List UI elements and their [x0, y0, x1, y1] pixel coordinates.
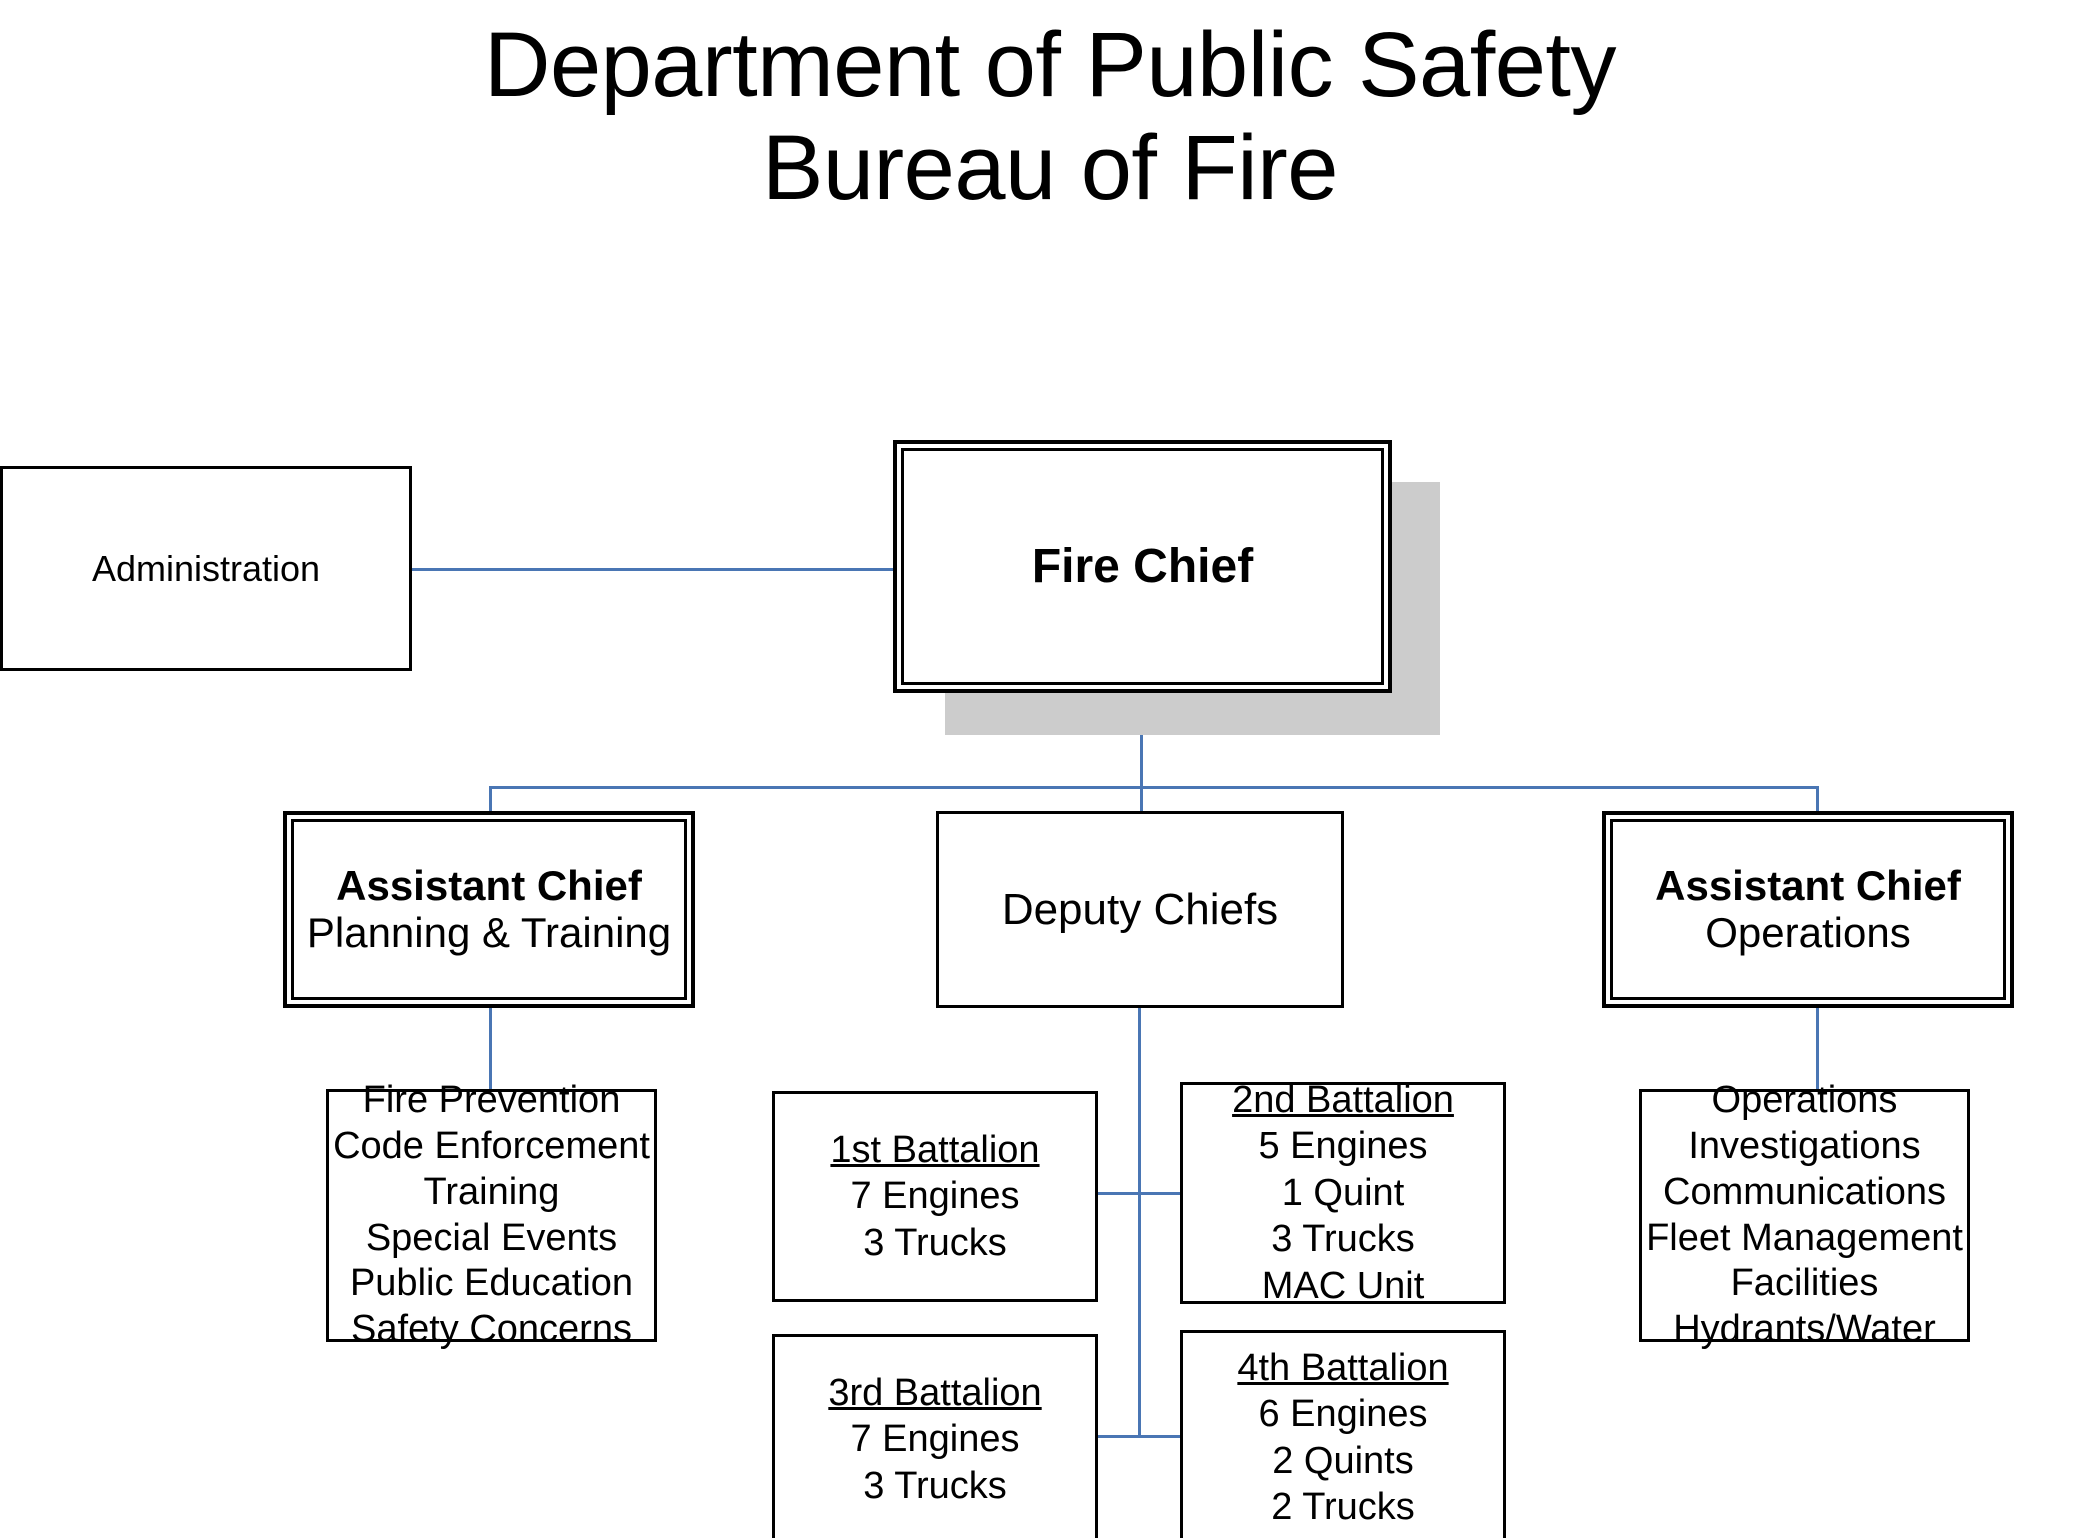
node-battalion-3[interactable]: 3rd Battalion 7 Engines 3 Trucks: [772, 1334, 1098, 1538]
connector-arm-battalion-4: [1138, 1435, 1180, 1438]
connector-deputy-chiefs-trunk: [1138, 1008, 1141, 1438]
node-assistant-chief-operations-subtitle: Operations: [1655, 910, 1961, 956]
node-planning-functions-text: Fire Prevention Code Enforcement Trainin…: [333, 1078, 650, 1354]
node-battalion-2-heading: 2nd Battalion: [1232, 1077, 1454, 1123]
connector-arm-battalion-2: [1138, 1192, 1180, 1195]
node-assistant-chief-planning-subtitle: Planning & Training: [307, 910, 671, 956]
node-battalion-4[interactable]: 4th Battalion 6 Engines 2 Quints 2 Truck…: [1180, 1330, 1506, 1538]
node-deputy-chiefs-label: Deputy Chiefs: [1002, 885, 1278, 935]
node-battalion-3-units: 7 Engines 3 Trucks: [850, 1418, 1019, 1506]
connector-arm-battalion-1: [1098, 1192, 1140, 1195]
node-battalion-4-units: 6 Engines 2 Quints 2 Trucks: [1258, 1393, 1427, 1528]
connector-drop-deputy-chiefs: [1140, 786, 1143, 811]
connector-arm-battalion-3: [1098, 1435, 1140, 1438]
node-administration-label: Administration: [92, 548, 320, 590]
node-battalion-2-text: 2nd Battalion 5 Engines 1 Quint 3 Trucks…: [1232, 1077, 1454, 1309]
node-assistant-chief-operations-title: Assistant Chief: [1655, 863, 1961, 909]
node-fire-chief[interactable]: Fire Chief: [893, 440, 1392, 693]
node-operations-functions-text: Operations Investigations Communications…: [1646, 1078, 1963, 1354]
node-battalion-3-text: 3rd Battalion 7 Engines 3 Trucks: [828, 1370, 1041, 1509]
node-battalion-1-heading: 1st Battalion: [830, 1127, 1039, 1173]
connector-drop-assistant-chief-planning: [489, 786, 492, 811]
node-battalion-2-units: 5 Engines 1 Quint 3 Trucks MAC Unit: [1258, 1125, 1427, 1306]
page-title: Department of Public Safety Bureau of Fi…: [0, 14, 2100, 220]
node-battalion-1[interactable]: 1st Battalion 7 Engines 3 Trucks: [772, 1091, 1098, 1302]
node-fire-chief-label: Fire Chief: [1032, 539, 1253, 594]
node-operations-functions[interactable]: Operations Investigations Communications…: [1639, 1089, 1970, 1342]
connector-drop-assistant-chief-operations: [1816, 786, 1819, 811]
node-fire-chief-frame: Fire Chief: [901, 448, 1384, 685]
org-chart-canvas: Department of Public Safety Bureau of Fi…: [0, 0, 2100, 1538]
node-assistant-chief-operations[interactable]: Assistant Chief Operations: [1602, 811, 2014, 1008]
node-administration[interactable]: Administration: [0, 466, 412, 671]
node-deputy-chiefs[interactable]: Deputy Chiefs: [936, 811, 1344, 1008]
node-assistant-chief-operations-text: Assistant Chief Operations: [1655, 863, 1961, 955]
node-assistant-chief-planning-title: Assistant Chief: [307, 863, 671, 909]
node-battalion-1-units: 7 Engines 3 Trucks: [850, 1175, 1019, 1263]
node-planning-functions[interactable]: Fire Prevention Code Enforcement Trainin…: [326, 1089, 657, 1342]
node-assistant-chief-planning[interactable]: Assistant Chief Planning & Training: [283, 811, 695, 1008]
node-assistant-chief-planning-text: Assistant Chief Planning & Training: [307, 863, 671, 955]
connector-administration-to-fire-chief: [410, 568, 895, 571]
node-battalion-4-heading: 4th Battalion: [1237, 1345, 1448, 1391]
node-assistant-chief-operations-frame: Assistant Chief Operations: [1610, 819, 2006, 1000]
node-assistant-chief-planning-frame: Assistant Chief Planning & Training: [291, 819, 687, 1000]
node-battalion-3-heading: 3rd Battalion: [828, 1370, 1041, 1416]
connector-second-row-bus: [489, 786, 1819, 789]
node-battalion-2[interactable]: 2nd Battalion 5 Engines 1 Quint 3 Trucks…: [1180, 1082, 1506, 1304]
node-battalion-4-text: 4th Battalion 6 Engines 2 Quints 2 Truck…: [1237, 1345, 1448, 1530]
node-battalion-1-text: 1st Battalion 7 Engines 3 Trucks: [830, 1127, 1039, 1266]
